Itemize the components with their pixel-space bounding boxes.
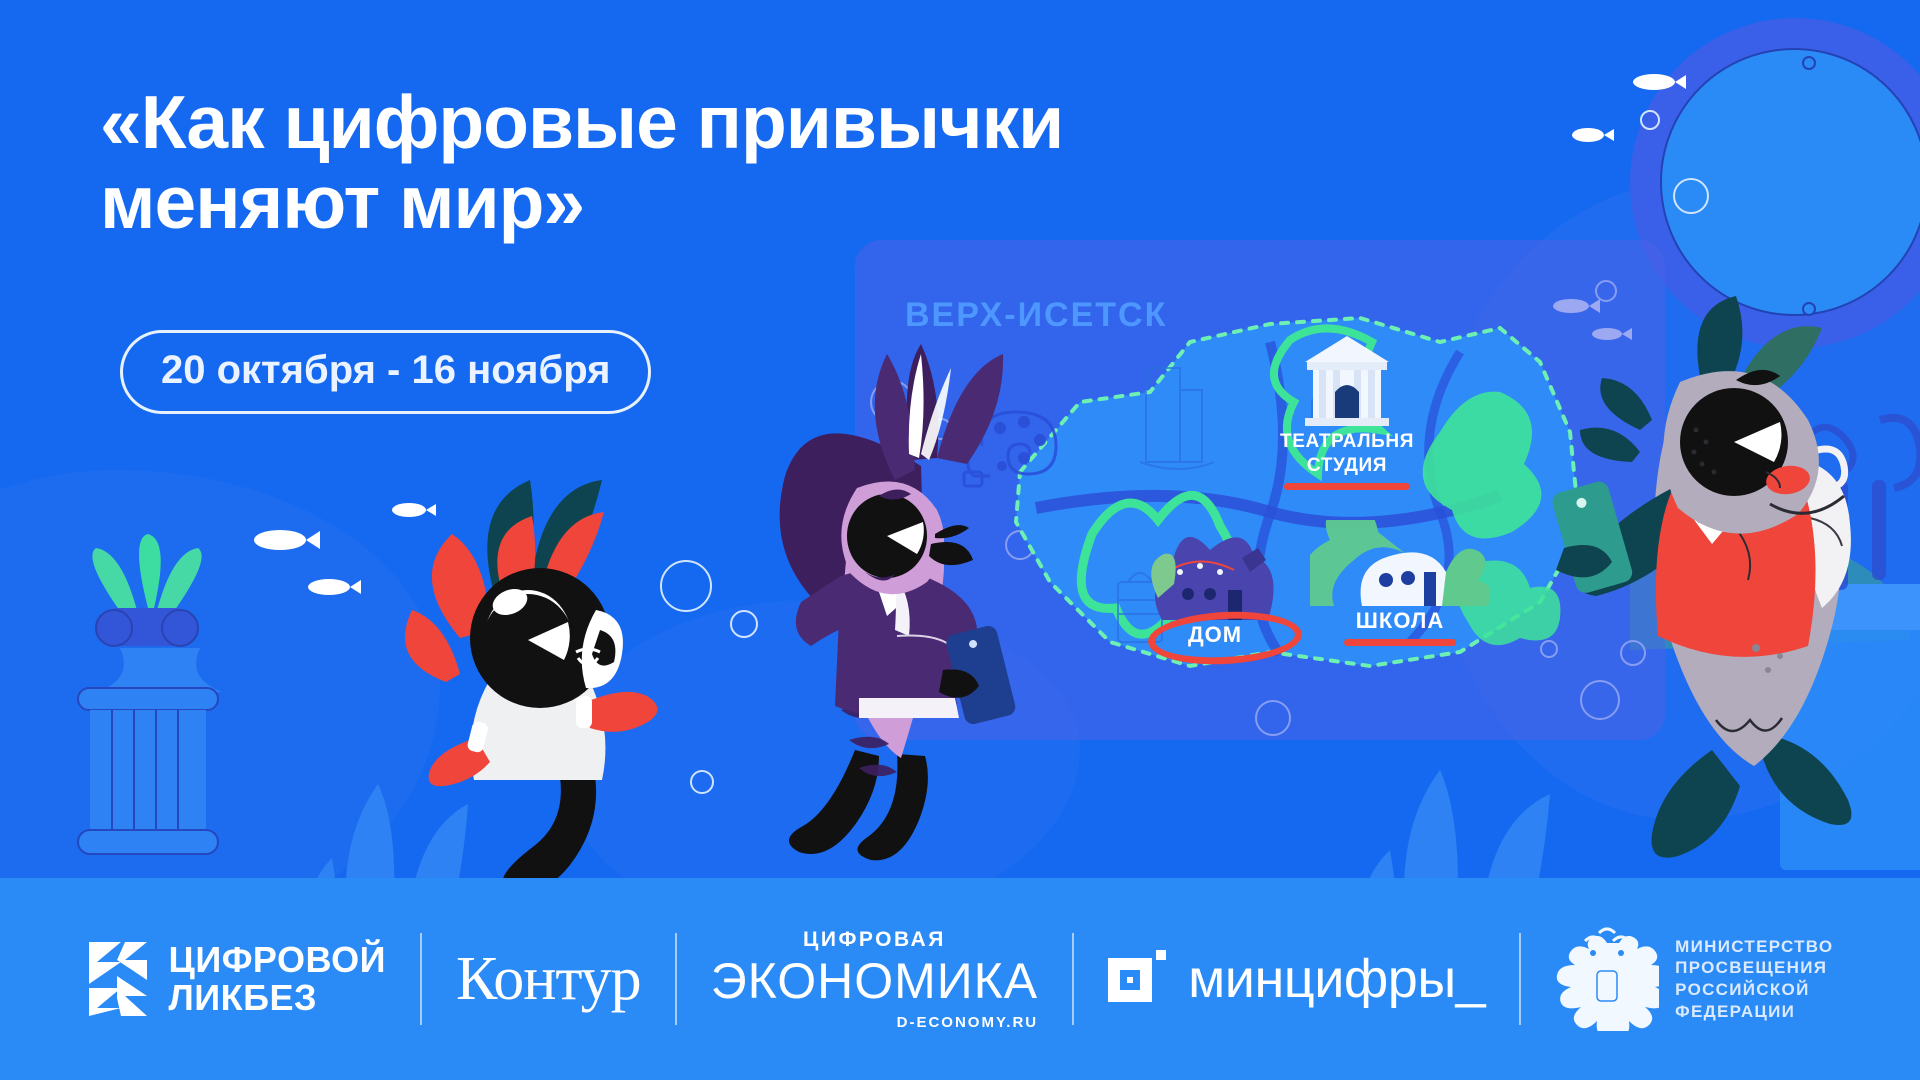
logo-cifrovoy-likbez[interactable]: ЦИФРОВОЙ ЛИКБЕЗ: [87, 940, 386, 1018]
divider: [420, 933, 422, 1025]
double-headed-eagle-icon: [1555, 927, 1659, 1031]
logo-cifrovaya-ekonomika[interactable]: ЦИФРОВАЯ ЭКОНОМИКА D-ECONOMY.RU: [711, 928, 1038, 1031]
theatre-label-line1: ТЕАТРАЛЬНЯ: [1280, 431, 1414, 452]
school-icon: [1310, 520, 1490, 606]
date-badge[interactable]: 20 октября - 16 ноября: [120, 330, 651, 414]
theatre-underline: [1284, 483, 1410, 490]
likbez-mark-icon: [87, 940, 149, 1018]
title-line-2: меняют мир»: [100, 162, 1100, 242]
home-icon: [1140, 532, 1290, 620]
minpros-line2: ПРОСВЕЩЕНИЯ: [1675, 957, 1833, 979]
fish-silhouette: [305, 575, 361, 599]
kontur-wordmark: Контур: [456, 944, 641, 1015]
footer-logos: ЦИФРОВОЙ ЛИКБЕЗ Контур ЦИФРОВАЯ ЭКОНОМИК…: [0, 878, 1920, 1080]
porthole-screw-top: [1802, 56, 1816, 70]
minpros-line3: РОССИЙСКОЙ: [1675, 979, 1833, 1001]
fish-silhouette: [250, 525, 320, 555]
divider: [1072, 933, 1074, 1025]
map-marker-home[interactable]: ДОМ: [1130, 532, 1300, 648]
theatre-icon: [1297, 330, 1397, 426]
logo-mincifry[interactable]: минцифры_: [1108, 948, 1485, 1010]
greek-column: [60, 530, 260, 880]
banner-root: ВЕРХ-ИСЕТСК: [0, 0, 1920, 1080]
map-marker-school[interactable]: ШКОЛА: [1300, 520, 1500, 646]
map-marker-theatre[interactable]: ТЕАТРАЛЬНЯ СТУДИЯ: [1232, 330, 1462, 490]
bubble: [1673, 178, 1709, 214]
ekonomika-url: D-ECONOMY.RU: [711, 1014, 1038, 1031]
school-label: ШКОЛА: [1300, 608, 1500, 634]
divider: [675, 933, 677, 1025]
school-underline: [1344, 639, 1456, 646]
likbez-line2: ЛИКБЕЗ: [169, 979, 386, 1017]
bubble: [1640, 110, 1660, 130]
ekonomika-main: ЭКОНОМИКА: [711, 952, 1038, 1010]
page-title: «Как цифровые привычки меняют мир»: [100, 82, 1100, 243]
character-black-fish-girl: [400, 470, 730, 890]
divider: [1519, 933, 1521, 1025]
character-gray-fish-boy: [1520, 290, 1920, 890]
mincifry-wordmark: минцифры_: [1188, 948, 1485, 1010]
logo-kontur[interactable]: Контур: [456, 944, 641, 1015]
title-line-1: «Как цифровые привычки: [100, 82, 1100, 162]
fish-silhouette: [1630, 70, 1686, 94]
logo-minprosvescheniya[interactable]: МИНИСТЕРСТВО ПРОСВЕЩЕНИЯ РОССИЙСКОЙ ФЕДЕ…: [1555, 927, 1833, 1031]
ekonomika-top: ЦИФРОВАЯ: [711, 928, 1038, 952]
minpros-line4: ФЕДЕРАЦИИ: [1675, 1001, 1833, 1023]
fish-silhouette: [1570, 125, 1614, 145]
home-label: ДОМ: [1188, 622, 1242, 647]
minpros-line1: МИНИСТЕРСТВО: [1675, 936, 1833, 958]
likbez-line1: ЦИФРОВОЙ: [169, 941, 386, 979]
character-purple-fish-lady: [745, 330, 1085, 890]
mincifry-square-icon: [1108, 950, 1166, 1008]
theatre-label-line2: СТУДИЯ: [1307, 455, 1387, 476]
